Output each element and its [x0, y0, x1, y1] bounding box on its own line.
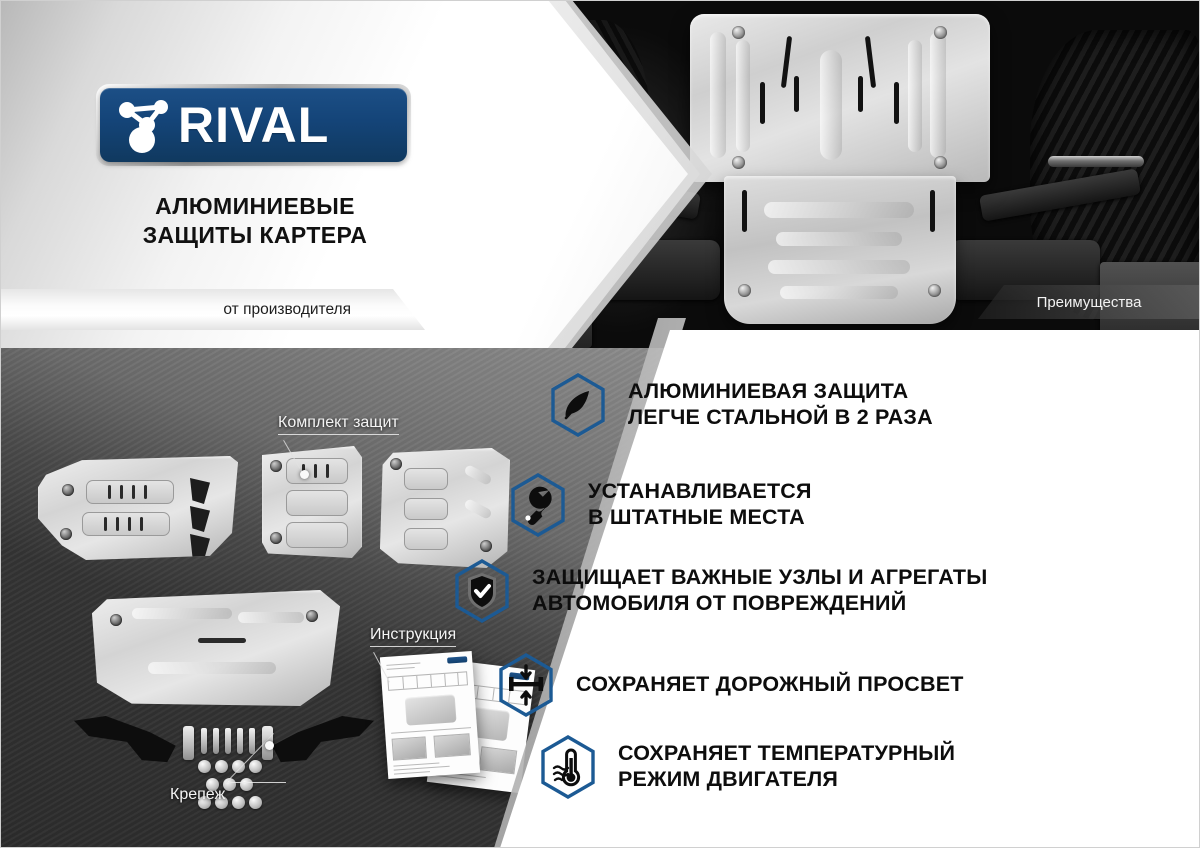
benefit-text: ЗАЩИЩАЕТ ВАЖНЫЕ УЗЛЫ И АГРЕГАТЫ АВТОМОБИ… — [532, 565, 987, 617]
skid-plate-right — [380, 448, 510, 568]
benefit-item-protects-components: ЗАЩИЩАЕТ ВАЖНЫЕ УЗЛЫ И АГРЕГАТЫ АВТОМОБИ… — [452, 558, 987, 624]
mounting-bracket-right — [268, 716, 374, 764]
feather-icon — [548, 372, 608, 438]
bolt — [201, 728, 207, 754]
skid-plate-large — [92, 590, 340, 706]
washer — [232, 760, 245, 773]
skid-plate-wide — [38, 456, 238, 560]
advantages-badge-label: Преимущества — [1037, 294, 1142, 311]
skid-plate-lower — [724, 176, 956, 324]
poster-root: Преимущества — [0, 0, 1200, 848]
shield-check-icon — [452, 558, 512, 624]
benefit-text: СОХРАНЯЕТ ДОРОЖНЫЙ ПРОСВЕТ — [576, 672, 964, 698]
page-title-line2: ЗАЩИТЫ КАРТЕРА — [100, 221, 410, 250]
subtitle-label: от производителя — [223, 301, 351, 319]
washer — [249, 796, 262, 809]
washer — [249, 760, 262, 773]
ground-clearance-icon — [496, 652, 556, 718]
callout-leader-line — [226, 782, 286, 783]
callout-instruction-label: Инструкция — [370, 626, 456, 644]
washer — [240, 778, 253, 791]
mounting-strip-left — [183, 726, 194, 760]
tie-rod-right — [1048, 156, 1144, 167]
callout-fasteners: Крепеж — [170, 786, 225, 804]
page-title-line1: АЛЮМИНИЕВЫЕ — [100, 192, 410, 221]
doc-photo — [433, 733, 470, 757]
callout-instruction: Инструкция — [370, 626, 456, 647]
doc-brand-mark — [447, 656, 468, 663]
brand-logo: RIVAL — [100, 88, 407, 162]
bolt — [225, 728, 231, 754]
instruction-sheet-front — [380, 651, 480, 779]
benefits-list: АЛЮМИНИЕВАЯ ЗАЩИТА ЛЕГЧЕ СТАЛЬНОЙ В 2 РА… — [500, 330, 1200, 848]
skid-plate-center — [262, 446, 362, 558]
benefit-text: АЛЮМИНИЕВАЯ ЗАЩИТА ЛЕГЧЕ СТАЛЬНОЙ В 2 РА… — [628, 379, 933, 431]
subtitle-bar: от производителя — [0, 289, 425, 330]
callout-protection-kit-label: Комплект защит — [278, 414, 399, 432]
advantages-badge: Преимущества — [978, 285, 1200, 319]
callout-fasteners-label: Крепеж — [170, 786, 225, 804]
skid-plate-upper — [690, 14, 990, 182]
bolt — [213, 728, 219, 754]
wrench-icon — [508, 472, 568, 538]
benefit-item-ground-clearance: СОХРАНЯЕТ ДОРОЖНЫЙ ПРОСВЕТ — [496, 652, 964, 718]
thermometer-icon — [538, 734, 598, 800]
doc-table — [387, 671, 468, 691]
benefit-item-oem-mounting: УСТАНАВЛИВАЕТСЯ В ШТАТНЫЕ МЕСТА — [508, 472, 812, 538]
washer — [198, 760, 211, 773]
benefit-text: УСТАНАВЛИВАЕТСЯ В ШТАТНЫЕ МЕСТА — [588, 479, 812, 531]
washer — [215, 760, 228, 773]
mounting-bracket-left — [74, 716, 180, 764]
doc-diagram — [405, 694, 457, 725]
callout-leader-dot — [265, 741, 274, 750]
brand-name: RIVAL — [178, 100, 329, 150]
benefit-item-engine-temperature: СОХРАНЯЕТ ТЕМПЕРАТУРНЫЙ РЕЖИМ ДВИГАТЕЛЯ — [538, 734, 955, 800]
benefit-text: СОХРАНЯЕТ ТЕМПЕРАТУРНЫЙ РЕЖИМ ДВИГАТЕЛЯ — [618, 741, 955, 793]
doc-photo — [392, 736, 427, 760]
bolt — [249, 728, 255, 754]
bolt — [237, 728, 243, 754]
benefit-item-lightweight: АЛЮМИНИЕВАЯ ЗАЩИТА ЛЕГЧЕ СТАЛЬНОЙ В 2 РА… — [548, 372, 933, 438]
washer — [232, 796, 245, 809]
callout-leader-dot — [300, 470, 309, 479]
page-title: АЛЮМИНИЕВЫЕ ЗАЩИТЫ КАРТЕРА — [100, 192, 410, 251]
callout-protection-kit: Комплект защит — [278, 414, 399, 435]
molecule-icon — [114, 96, 176, 154]
